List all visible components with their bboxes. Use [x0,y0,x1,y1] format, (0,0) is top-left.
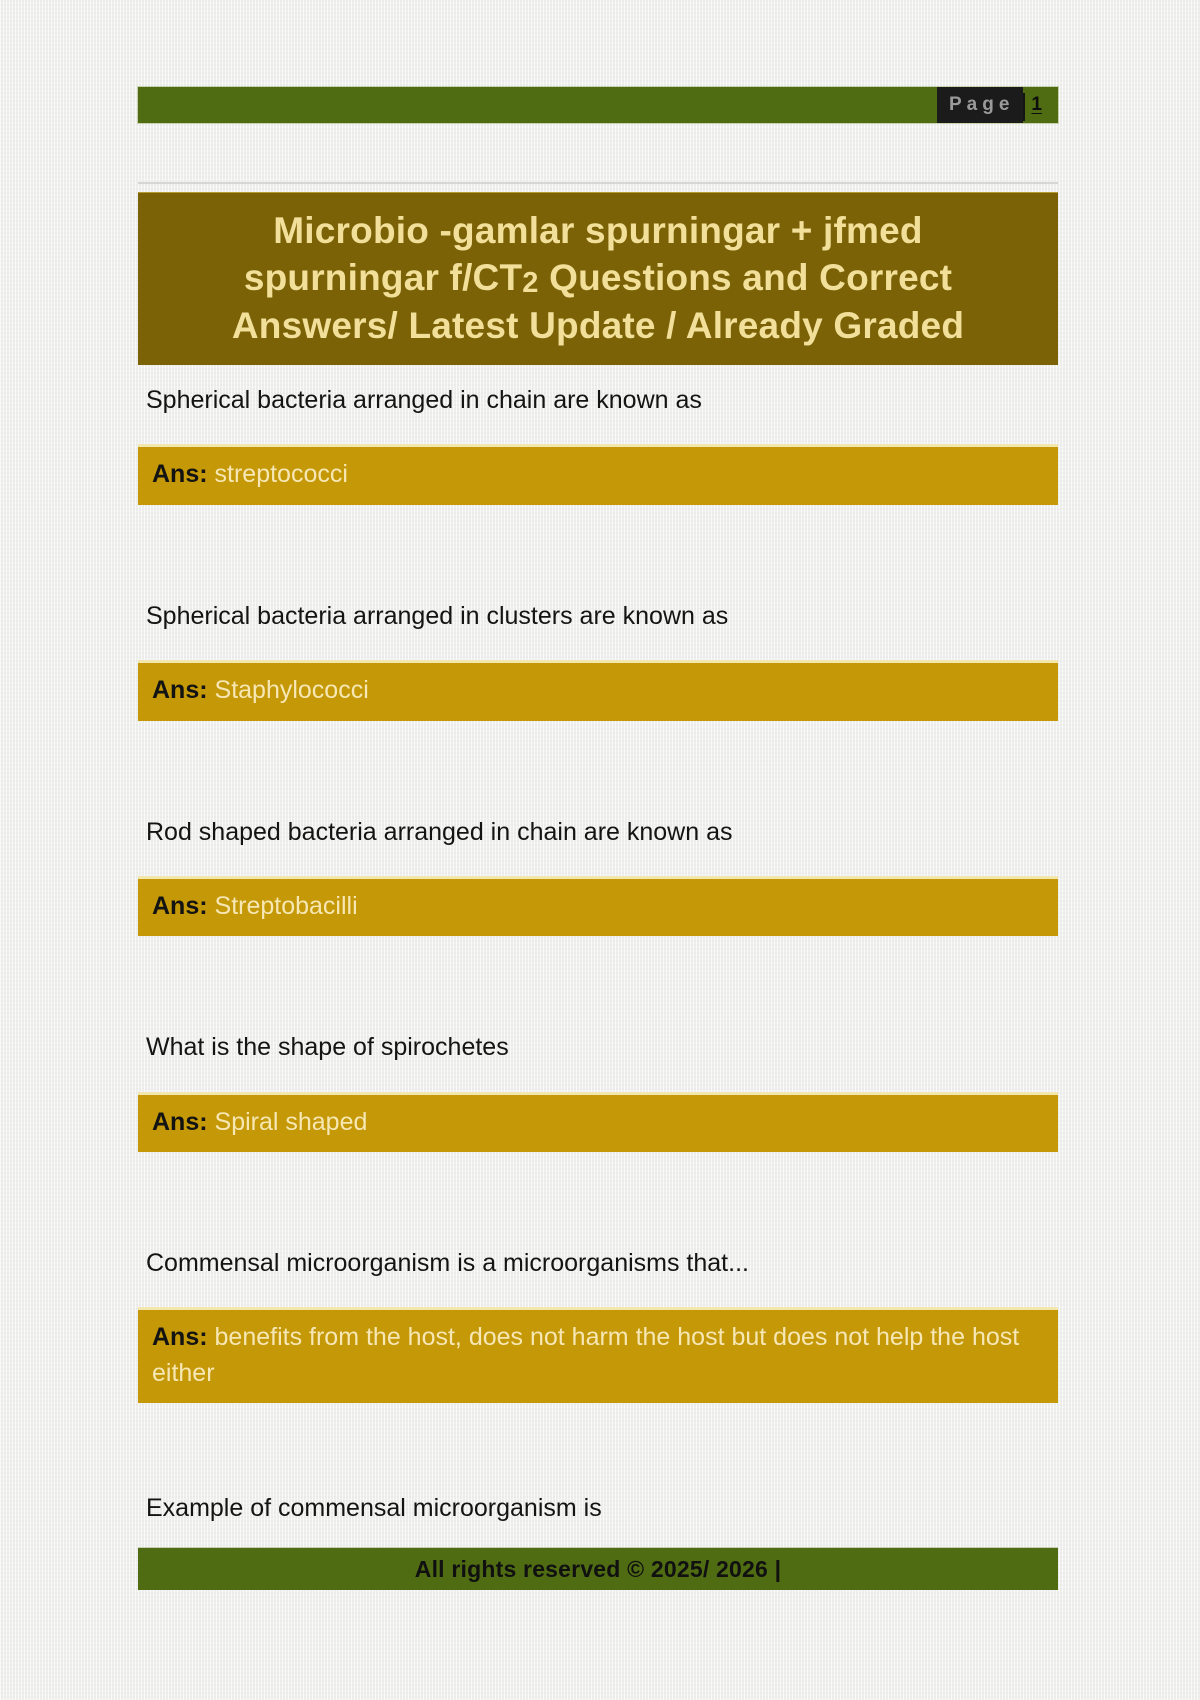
qa-spacer [0,936,1200,1032]
document-title: Microbio -gamlar spurningar + jfmed spur… [156,207,1040,349]
copyright-text: All rights reserved © 2025/ 2026 | [415,1556,781,1583]
title-line-2-subscript: 2 [522,267,538,299]
answer-text: Spiral shaped [215,1108,368,1136]
qa-item: Commensal microorganism is a microorgani… [0,1248,1200,1403]
answer-label: Ans: [152,892,208,920]
document-title-block: Microbio -gamlar spurningar + jfmed spur… [138,193,1058,365]
answer-label: Ans: [152,676,208,704]
title-line-1: Microbio -gamlar spurningar + jfmed [273,210,922,251]
question-text: Rod shaped bacteria arranged in chain ar… [0,817,1200,848]
qa-item: Spherical bacteria arranged in clusters … [0,601,1200,721]
answer-bar: Ans: Spiral shaped [138,1092,1058,1153]
title-line-3: Answers/ Latest Update / Already Graded [232,305,964,346]
qa-spacer [0,1403,1200,1493]
qa-spacer [0,505,1200,601]
question-text: What is the shape of spirochetes [0,1032,1200,1063]
question-text: Spherical bacteria arranged in chain are… [0,385,1200,416]
qa-spacer [0,1152,1200,1248]
title-line-2-after: Questions and Correct [539,257,953,298]
qa-item: Example of commensal microorganism is [0,1493,1200,1524]
page-header-bar: Page 1 [138,87,1058,123]
question-text: Example of commensal microorganism is [0,1493,1200,1524]
title-line-2-before: spurningar f/CT [244,257,522,298]
page-footer-bar: All rights reserved © 2025/ 2026 | [138,1548,1058,1590]
answer-label: Ans: [152,1108,208,1136]
answer-label: Ans: [152,460,208,488]
question-text: Spherical bacteria arranged in clusters … [0,601,1200,632]
answer-bar: Ans: streptococci [138,444,1058,505]
horizontal-rule [138,182,1058,184]
answer-text: streptococci [215,460,348,488]
question-text: Commensal microorganism is a microorgani… [0,1248,1200,1279]
qa-item: Spherical bacteria arranged in chain are… [0,385,1200,505]
page-label: Page [937,87,1023,123]
page-number: 1 [1025,87,1058,123]
qa-list: Spherical bacteria arranged in chain are… [0,385,1200,1525]
document-page: Page 1 Microbio -gamlar spurningar + jfm… [0,0,1200,1700]
answer-text: benefits from the host, does not harm th… [152,1323,1019,1387]
qa-item: What is the shape of spirochetes Ans: Sp… [0,1032,1200,1152]
answer-text: Streptobacilli [215,892,358,920]
qa-item: Rod shaped bacteria arranged in chain ar… [0,817,1200,937]
answer-text: Staphylococci [215,676,369,704]
answer-bar: Ans: Staphylococci [138,660,1058,721]
answer-label: Ans: [152,1323,208,1351]
answer-bar: Ans: benefits from the host, does not ha… [138,1307,1058,1403]
answer-bar: Ans: Streptobacilli [138,876,1058,937]
qa-spacer [0,721,1200,817]
page-marker: Page 1 [937,87,1058,123]
